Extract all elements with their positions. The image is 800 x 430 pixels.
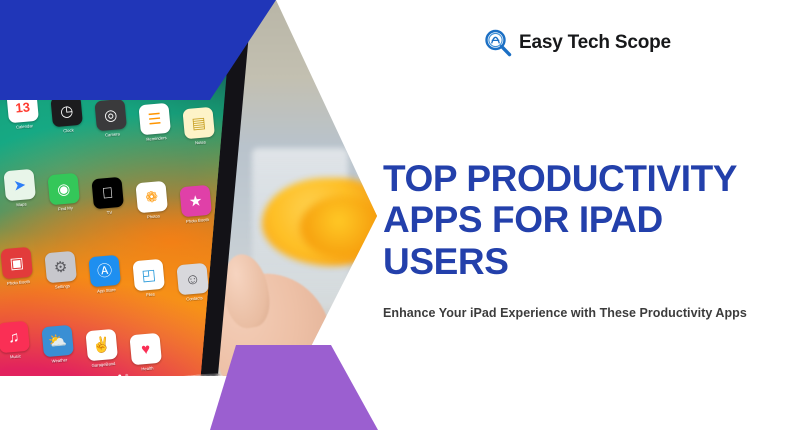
app-tile: ▣ [0,247,33,280]
app-tile: ◰ [132,259,165,292]
app-label: Settings [47,283,77,291]
magnifier-icon [483,28,513,58]
page-dot [125,374,128,377]
app-icon[interactable]: ♫Music [0,321,31,361]
app-tile: Ⓐ [88,255,121,288]
app-icon[interactable]: TV [91,177,124,217]
dock-app-icon[interactable]: ◎ [14,398,47,430]
app-label: Photo Booth [3,279,33,287]
app-label: Reminders [141,135,171,143]
app-icon[interactable]: ♥Health [129,333,162,373]
app-icon[interactable]: ☰Reminders [138,103,171,143]
app-tile:  [91,177,124,210]
app-icon[interactable]: ⛅Weather [41,325,74,365]
app-tile: ★ [179,185,212,218]
app-label: Clock [53,127,83,135]
app-icon[interactable]: ▣Photo Booth [0,247,33,287]
app-tile: ◎ [94,99,127,132]
page-title: TOP PRODUCTIVITY APPS FOR IPAD USERS [383,158,783,282]
app-icon[interactable]: ❁Photos [135,181,168,221]
app-label: Files [135,291,165,299]
app-label: Find My [50,205,80,213]
page-dot-active [118,374,121,377]
app-icon[interactable]: ☺Contacts [176,263,209,303]
page-subtitle: Enhance Your iPad Experience with These … [383,306,783,320]
app-label: Music [0,353,30,361]
app-icon[interactable]: ⚙Settings [44,251,77,291]
dock-app-icon[interactable]: ◯ [100,390,133,423]
app-tile: ❁ [135,181,168,214]
app-label: Maps [6,201,36,209]
app-label: TV [94,209,124,217]
app-icon[interactable]: ▤Notes [182,107,215,147]
brand-logo[interactable]: Easy Tech Scope [483,28,671,58]
app-tile: ⚙ [44,251,77,284]
app-label: Photos [138,213,168,221]
app-label: Camera [97,131,127,139]
page-indicator [117,363,133,382]
app-tile: ☰ [138,103,171,136]
app-icon[interactable]: ◷Clock [50,95,83,135]
dock-app-icon[interactable]: ▶ [185,382,218,415]
app-label: App Store [91,287,121,295]
app-icon[interactable]: ⒶApp Store [88,255,121,295]
dock-app-icon[interactable]: ✉ [57,394,90,427]
app-label: Weather [44,357,74,365]
app-tile: ◉ [47,173,80,206]
dock-app-icon[interactable]: ⚙ [143,386,176,419]
app-label: Notes [185,139,215,147]
app-icon[interactable]: ★Photo Booth [179,185,212,225]
app-tile: ♫ [0,321,30,354]
app-tile: ▤ [182,107,215,140]
app-icon[interactable]: ◰Files [132,259,165,299]
ios-dock: ◎✉◯⚙▶ [4,372,231,430]
app-tile: ✌ [85,329,118,362]
promo-banner: 9:41 13Calendar◷Clock◎Camera☰Reminders▤N… [0,0,800,430]
app-tile: ☺ [176,263,209,296]
app-icon[interactable]: ➤Maps [3,169,36,209]
app-label: Health [132,365,162,373]
app-label: Calendar [9,123,39,131]
app-tile: ♥ [129,333,162,366]
app-tile: ➤ [3,169,36,202]
blurred-orange-highlight [300,196,386,258]
app-label: Contacts [179,295,209,303]
app-label: GarageBand [88,361,118,369]
app-icon[interactable]: ◉Find My [47,173,80,213]
brand-name: Easy Tech Scope [519,32,671,54]
app-icon[interactable]: ◎Camera [94,99,127,139]
app-icon[interactable]: ✌GarageBand [85,329,118,369]
app-tile: ⛅ [41,325,74,358]
app-label: Photo Booth [182,217,212,225]
